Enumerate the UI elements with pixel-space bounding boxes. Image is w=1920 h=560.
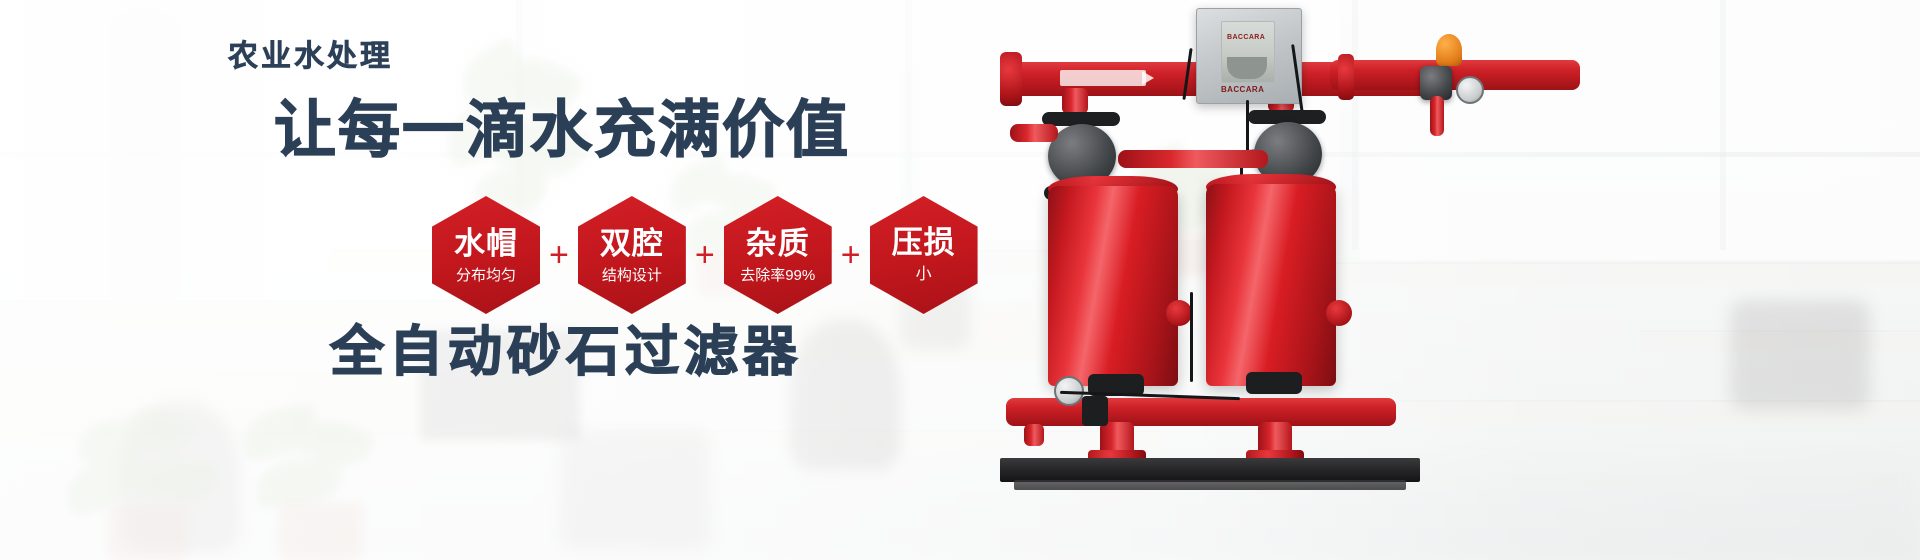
feature-badge-2: 双腔结构设计	[578, 196, 686, 314]
lower-collar-right	[1246, 372, 1302, 394]
feature-badge-row: 水帽分布均匀+双腔结构设计+杂质去除率99%+压损小	[430, 196, 980, 314]
feature-badge-title: 压损	[892, 227, 956, 258]
tank-cable	[1190, 292, 1193, 382]
badge-separator-plus-icon: +	[841, 238, 861, 272]
valve-body-top-right	[1420, 66, 1452, 100]
feature-badge-subtitle: 小	[916, 267, 932, 283]
promo-banner: BACCARA BACCARA	[0, 0, 1920, 560]
tank-side-port-left	[1166, 300, 1192, 326]
pressure-gauge-top	[1456, 76, 1484, 104]
feature-badge-1: 水帽分布均匀	[432, 196, 540, 314]
riser-right	[1430, 96, 1444, 136]
flow-arrow-head	[1142, 71, 1154, 85]
tank-right	[1206, 184, 1336, 386]
feature-badge-title: 水帽	[454, 228, 518, 259]
feature-badge-subtitle: 去除率99%	[740, 268, 815, 283]
feature-badge-subtitle: 结构设计	[602, 268, 662, 283]
controller-brand-label: BACCARA	[1221, 85, 1264, 94]
controller-box: BACCARA BACCARA	[1196, 8, 1302, 104]
cross-pipe	[1118, 150, 1268, 168]
subheadline-text: 全自动砂石过滤器	[330, 325, 802, 379]
controller-brand-label-top: BACCARA	[1227, 34, 1265, 41]
tank-side-port-right	[1326, 300, 1352, 326]
feature-badge-title: 双腔	[600, 228, 664, 259]
badge-separator-plus-icon: +	[549, 238, 569, 272]
feature-badge-4: 压损小	[870, 196, 978, 314]
headline-text: 让每一滴水充满价值	[274, 100, 850, 162]
eyebrow-text: 农业水处理	[228, 42, 393, 72]
feature-badge-title: 杂质	[746, 228, 810, 259]
feature-badge-3: 杂质去除率99%	[724, 196, 832, 314]
feature-badge-subtitle: 分布均匀	[456, 268, 516, 283]
badge-separator-plus-icon: +	[695, 238, 715, 272]
pipe-tee-left	[1338, 54, 1354, 100]
air-release-valve	[1436, 34, 1462, 66]
controller-knob	[1227, 57, 1267, 79]
